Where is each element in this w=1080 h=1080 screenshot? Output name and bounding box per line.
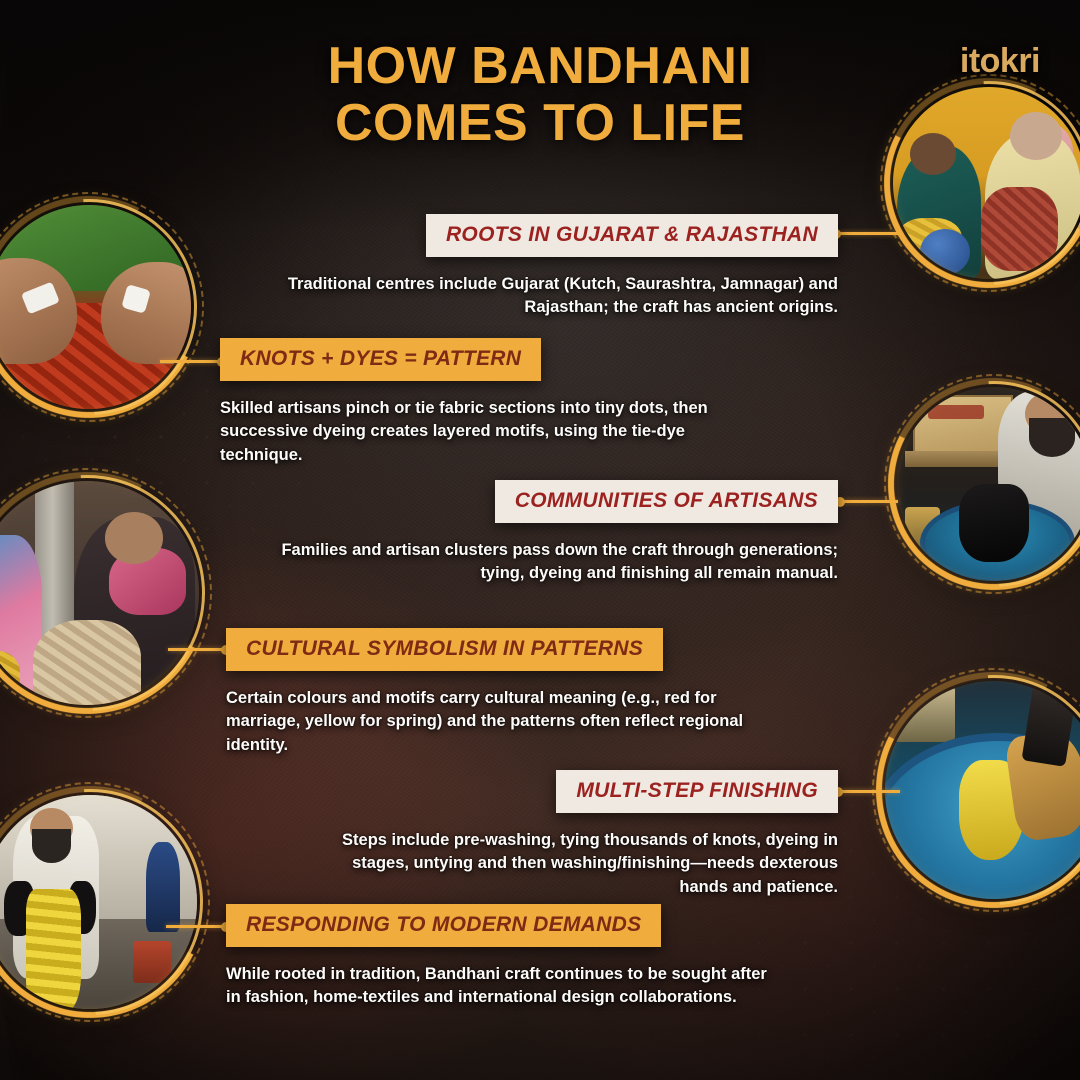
photo-man-yellow-cloth (0, 786, 206, 1018)
page-title-line-2: COMES TO LIFE (0, 95, 1080, 152)
section-body-communities: Families and artisan clusters pass down … (242, 539, 838, 586)
section-communities: COMMUNITIES OF ARTISANS Families and art… (242, 480, 838, 586)
section-roots: ROOTS IN GUJARAT & RAJASTHAN Traditional… (272, 214, 838, 320)
photo-dyer-gloves (888, 378, 1080, 590)
page-title-line-1: HOW BANDHANI (328, 37, 753, 95)
photo-woman-glasses (0, 472, 208, 714)
section-heading-roots: ROOTS IN GUJARAT & RAJASTHAN (426, 214, 838, 257)
section-body-knots: Skilled artisans pinch or tie fabric sec… (220, 397, 748, 467)
section-heading-communities: COMMUNITIES OF ARTISANS (495, 480, 838, 523)
section-knots: KNOTS + DYES = PATTERN Skilled artisans … (220, 338, 748, 467)
brand-logo-text: itokri (960, 42, 1040, 80)
section-body-finishing: Steps include pre-washing, tying thousan… (302, 829, 838, 899)
section-heading-modern: RESPONDING TO MODERN DEMANDS (226, 904, 661, 947)
section-symbolism: CULTURAL SYMBOLISM IN PATTERNS Certain c… (226, 628, 772, 757)
section-heading-finishing: MULTI-STEP FINISHING (556, 770, 838, 813)
connector-modern (166, 925, 226, 928)
section-body-modern: While rooted in tradition, Bandhani craf… (226, 963, 786, 1010)
section-finishing: MULTI-STEP FINISHING Steps include pre-w… (302, 770, 838, 899)
page-title: HOW BANDHANI COMES TO LIFE (0, 38, 1080, 152)
connector-communities (840, 500, 898, 503)
connector-roots (836, 232, 902, 235)
connector-symbolism (168, 648, 226, 651)
connector-finishing (838, 790, 900, 793)
section-body-symbolism: Certain colours and motifs carry cultura… (226, 687, 772, 757)
section-body-roots: Traditional centres include Gujarat (Kut… (272, 273, 838, 320)
connector-knots (160, 360, 222, 363)
photo-dye-vat (876, 672, 1080, 908)
section-heading-symbolism: CULTURAL SYMBOLISM IN PATTERNS (226, 628, 663, 671)
section-modern: RESPONDING TO MODERN DEMANDS While roote… (226, 904, 786, 1010)
photo-hands-red-fabric (0, 196, 200, 418)
section-heading-knots: KNOTS + DYES = PATTERN (220, 338, 541, 381)
brand-logo[interactable]: itokri (960, 42, 1040, 81)
